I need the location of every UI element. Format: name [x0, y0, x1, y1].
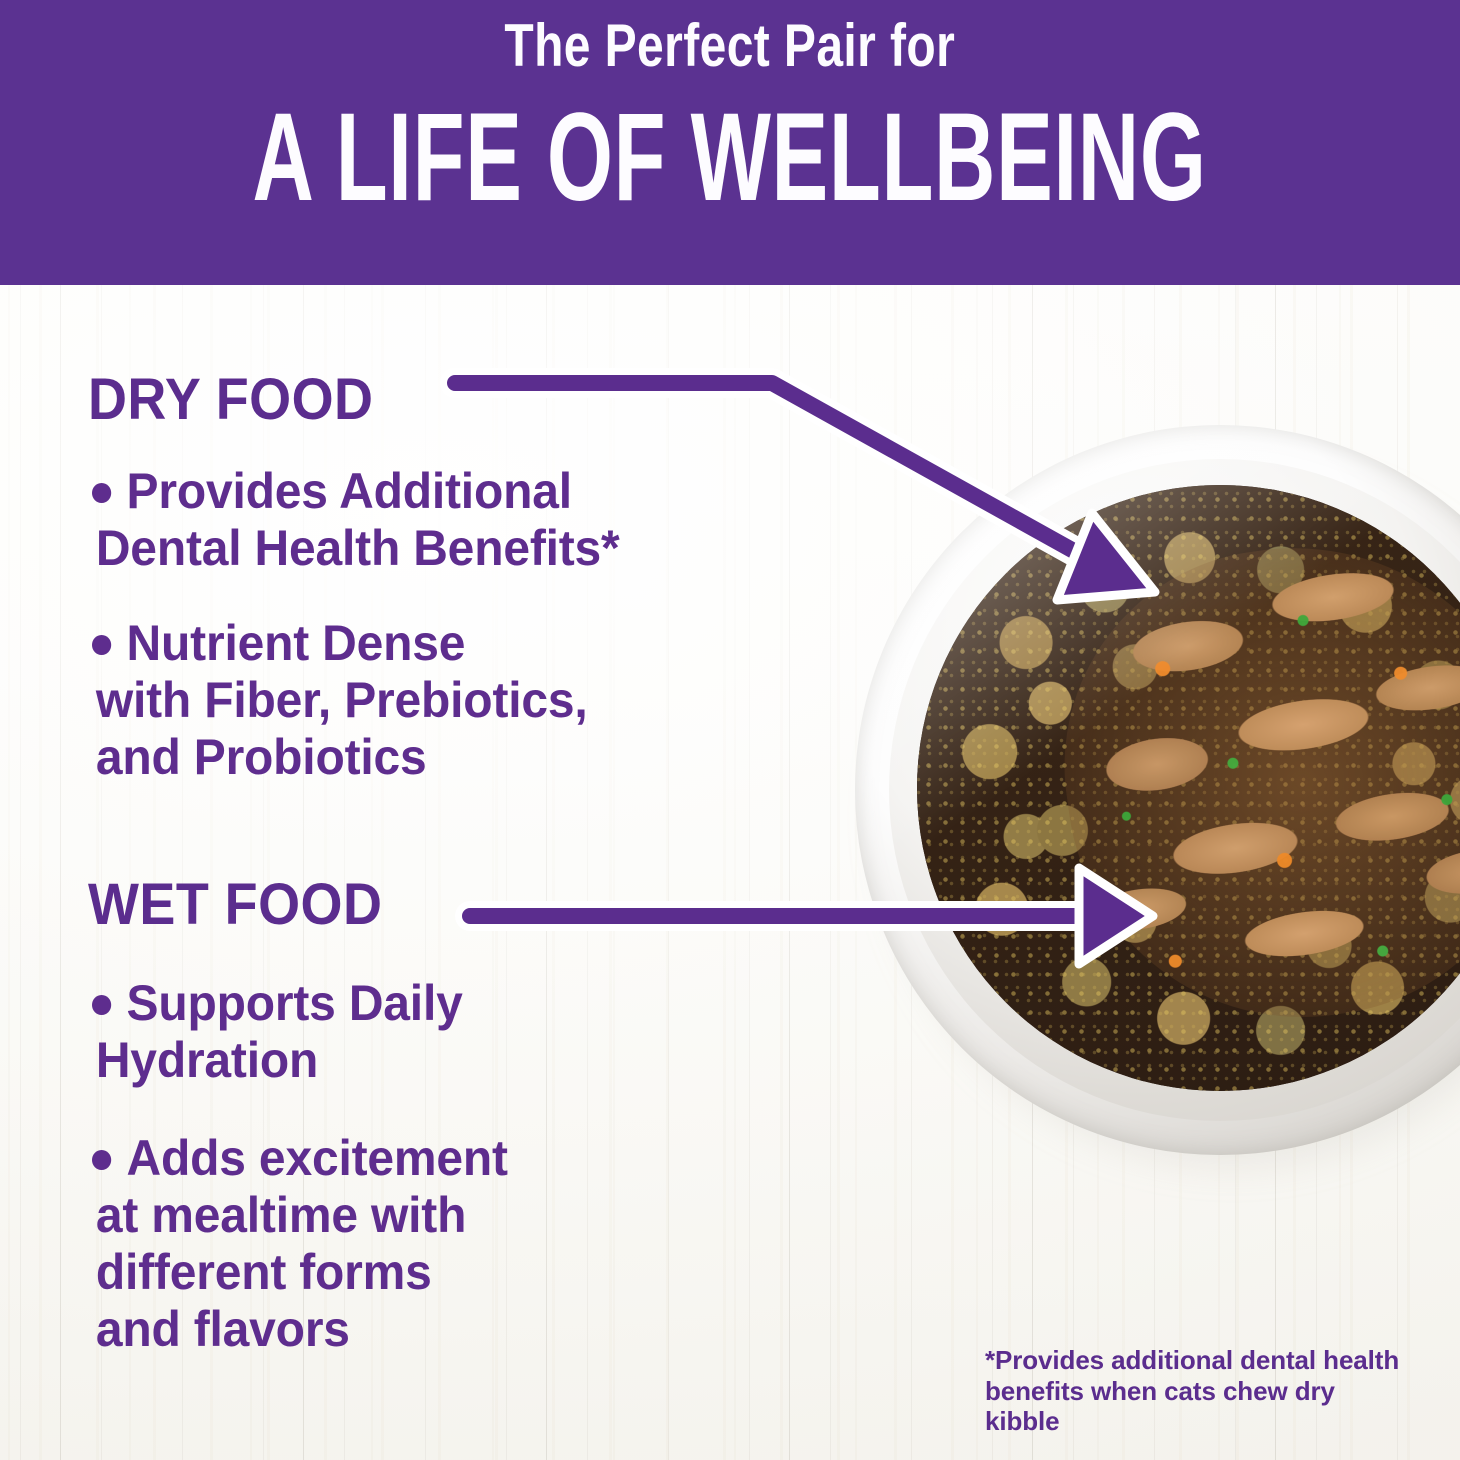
bullet-dot-icon: [92, 1150, 111, 1170]
bullet-dry-2-line3: and Probiotics: [96, 729, 588, 786]
dental-health-footnote: *Provides additional dental health benef…: [985, 1345, 1415, 1437]
header-band: The Perfect Pair for A LIFE OF WELLBEING: [0, 0, 1460, 285]
footnote-line-2: benefits when cats chew dry kibble: [985, 1376, 1415, 1437]
benefits-copy-column: DRY FOOD Provides Additional Dental Heal…: [0, 285, 860, 1460]
bullet-dry-1-line1: Provides Additional: [127, 463, 572, 519]
product-benefit-poster: The Perfect Pair for A LIFE OF WELLBEING: [0, 0, 1460, 1460]
bullet-wet-2-line3: different forms: [96, 1244, 508, 1301]
bullet-dot-icon: [92, 635, 111, 655]
header-headline: A LIFE OF WELLBEING: [253, 95, 1207, 220]
bullet-wet-1: Supports Daily Hydration: [92, 975, 463, 1089]
vegetable-bits: [1037, 517, 1460, 1048]
bullet-wet-1-line1: Supports Daily: [127, 975, 463, 1031]
bullet-wet-2: Adds excitement at mealtime with differe…: [92, 1130, 508, 1358]
bullet-dry-2-line2: with Fiber, Prebiotics,: [96, 672, 588, 729]
section-label-wet-food: WET FOOD: [88, 871, 382, 938]
bowl-food-well: [917, 485, 1460, 1091]
bullet-wet-2-line2: at mealtime with: [96, 1187, 508, 1244]
bullet-wet-2-line4: and flavors: [96, 1301, 508, 1358]
bullet-wet-1-line2: Hydration: [96, 1032, 463, 1089]
bullet-wet-2-line1: Adds excitement: [127, 1130, 508, 1186]
bullet-dot-icon: [92, 483, 111, 503]
bullet-dry-1-line2: Dental Health Benefits*: [96, 520, 620, 577]
bullet-dry-2-line1: Nutrient Dense: [127, 615, 466, 671]
header-eyebrow: The Perfect Pair for: [505, 14, 956, 77]
section-label-dry-food: DRY FOOD: [88, 366, 373, 433]
pet-food-bowl-image: [855, 425, 1460, 1185]
footnote-line-1: *Provides additional dental health: [985, 1345, 1415, 1376]
bullet-dry-1: Provides Additional Dental Health Benefi…: [92, 463, 620, 577]
bullet-dot-icon: [92, 995, 111, 1015]
bullet-dry-2: Nutrient Dense with Fiber, Prebiotics, a…: [92, 615, 588, 786]
